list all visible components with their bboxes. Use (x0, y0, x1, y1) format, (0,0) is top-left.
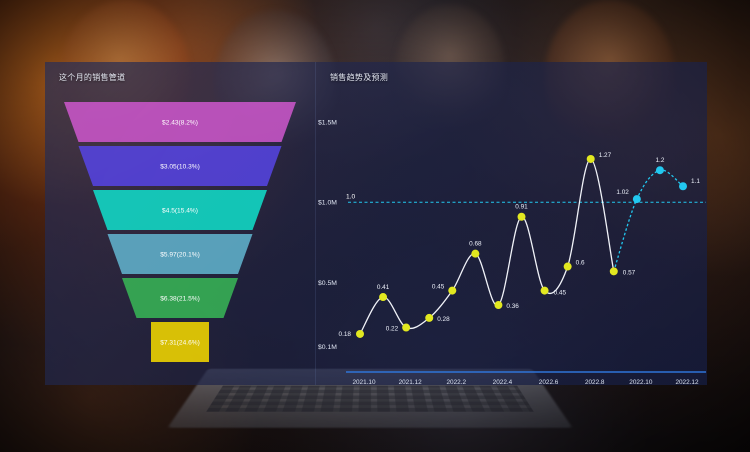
funnel-segment-label: $2.43(8.2%) (162, 119, 198, 126)
funnel-chart: $2.43(8.2%)$3.05(10.3%)$4.5(15.4%)$5.97(… (45, 92, 315, 372)
data-point-label: 0.45 (432, 284, 445, 291)
data-point-marker[interactable] (448, 287, 456, 295)
forecast-point-label: 1.02 (616, 189, 629, 196)
funnel-segment-label: $4.5(15.4%) (162, 207, 198, 214)
data-point[interactable]: 0.45 (541, 287, 567, 297)
forecast-series-line (614, 170, 683, 271)
data-point-label: 0.91 (515, 204, 528, 211)
x-axis-tick-label: 2022.4 (493, 379, 513, 385)
y-axis-tick-label: $0.5M (318, 280, 337, 287)
funnel-segment[interactable]: $3.05(10.3%) (79, 146, 282, 186)
data-point-label: 0.57 (623, 269, 636, 276)
data-point[interactable]: 0.6 (564, 260, 585, 271)
data-point[interactable]: 0.41 (377, 284, 390, 301)
data-point-label: 0.18 (339, 331, 352, 338)
x-axis-tick-label: 2022.6 (539, 379, 559, 385)
x-axis-tick-label: 2022.8 (585, 379, 605, 385)
y-axis-tick-label: $1.0M (318, 200, 337, 207)
data-point-label: 0.36 (506, 303, 519, 310)
data-point-marker[interactable] (471, 250, 479, 258)
data-point[interactable]: 0.28 (425, 314, 450, 323)
forecast-point-marker[interactable] (679, 182, 687, 190)
funnel-segment[interactable]: $2.43(8.2%) (64, 102, 296, 142)
funnel-segment[interactable]: $5.97(20.1%) (108, 234, 253, 274)
funnel-segment-label: $5.97(20.1%) (160, 251, 200, 258)
forecast-point-marker[interactable] (633, 195, 641, 203)
data-point[interactable]: 0.36 (494, 301, 519, 310)
data-point-label: 0.41 (377, 284, 390, 291)
data-point-marker[interactable] (610, 267, 618, 275)
x-axis-tick-label: 2022.2 (447, 379, 467, 385)
x-axis-tick-label: 2022.10 (629, 379, 653, 385)
y-axis-tick-label: $1.5M (318, 119, 337, 126)
forecast-point-marker[interactable] (656, 166, 664, 174)
funnel-segment-label: $6.38(21.5%) (160, 295, 200, 302)
funnel-segment-label: $7.31(24.6%) (160, 339, 200, 346)
funnel-segment[interactable]: $6.38(21.5%) (122, 278, 238, 318)
forecast-point[interactable]: 1.2 (655, 157, 664, 174)
x-axis-tick-label: 2021.10 (352, 379, 376, 385)
data-point-marker[interactable] (518, 213, 526, 221)
x-axis-tick-label: 2021.12 (399, 379, 423, 385)
threshold-label: 1.0 (346, 193, 355, 200)
data-point[interactable]: 0.45 (432, 284, 456, 295)
data-point-marker[interactable] (564, 263, 572, 271)
data-point-label: 1.27 (599, 152, 612, 159)
data-point[interactable]: 0.22 (386, 324, 410, 333)
forecast-point[interactable]: 1.1 (679, 178, 700, 190)
data-point[interactable]: 0.91 (515, 204, 528, 221)
data-point[interactable]: 0.18 (339, 330, 364, 338)
funnel-segment[interactable]: $4.5(15.4%) (93, 190, 267, 230)
forecast-point-label: 1.2 (655, 157, 664, 164)
actual-series-line (360, 159, 614, 334)
data-point-marker[interactable] (379, 293, 387, 301)
forecast-point[interactable]: 1.02 (616, 189, 640, 203)
funnel-chart-title: 这个月的销售管道 (59, 72, 125, 83)
data-point-marker[interactable] (425, 314, 433, 322)
data-point-marker[interactable] (356, 330, 364, 338)
data-point-label: 0.28 (437, 316, 450, 323)
funnel-segment-label: $3.05(10.3%) (160, 163, 200, 170)
funnel-segment[interactable]: $7.31(24.6%) (151, 322, 209, 362)
screenshot-stage: 这个月的销售管道 $2.43(8.2%)$3.05(10.3%)$4.5(15.… (0, 0, 750, 452)
forecast-point-label: 1.1 (691, 178, 700, 185)
data-point-label: 0.6 (576, 260, 585, 267)
data-point-marker[interactable] (494, 301, 502, 309)
data-point-label: 0.68 (469, 241, 482, 248)
data-point-label: 0.45 (554, 290, 567, 297)
line-card: 销售趋势及预测 $0.1M$0.5M$1.0M$1.5M1.02021.1020… (315, 62, 707, 385)
sales-trend-chart: $0.1M$0.5M$1.0M$1.5M1.02021.102021.12202… (316, 62, 708, 385)
data-point-marker[interactable] (541, 287, 549, 295)
data-point-marker[interactable] (402, 324, 410, 332)
x-axis-tick-label: 2022.12 (675, 379, 699, 385)
data-point[interactable]: 0.57 (610, 267, 636, 276)
data-point-marker[interactable] (587, 155, 595, 163)
funnel-card: 这个月的销售管道 $2.43(8.2%)$3.05(10.3%)$4.5(15.… (45, 62, 315, 385)
y-axis-tick-label: $0.1M (318, 344, 337, 351)
data-point-label: 0.22 (386, 326, 399, 333)
data-point[interactable]: 1.27 (587, 152, 612, 163)
dashboard-panel: 这个月的销售管道 $2.43(8.2%)$3.05(10.3%)$4.5(15.… (45, 62, 707, 385)
